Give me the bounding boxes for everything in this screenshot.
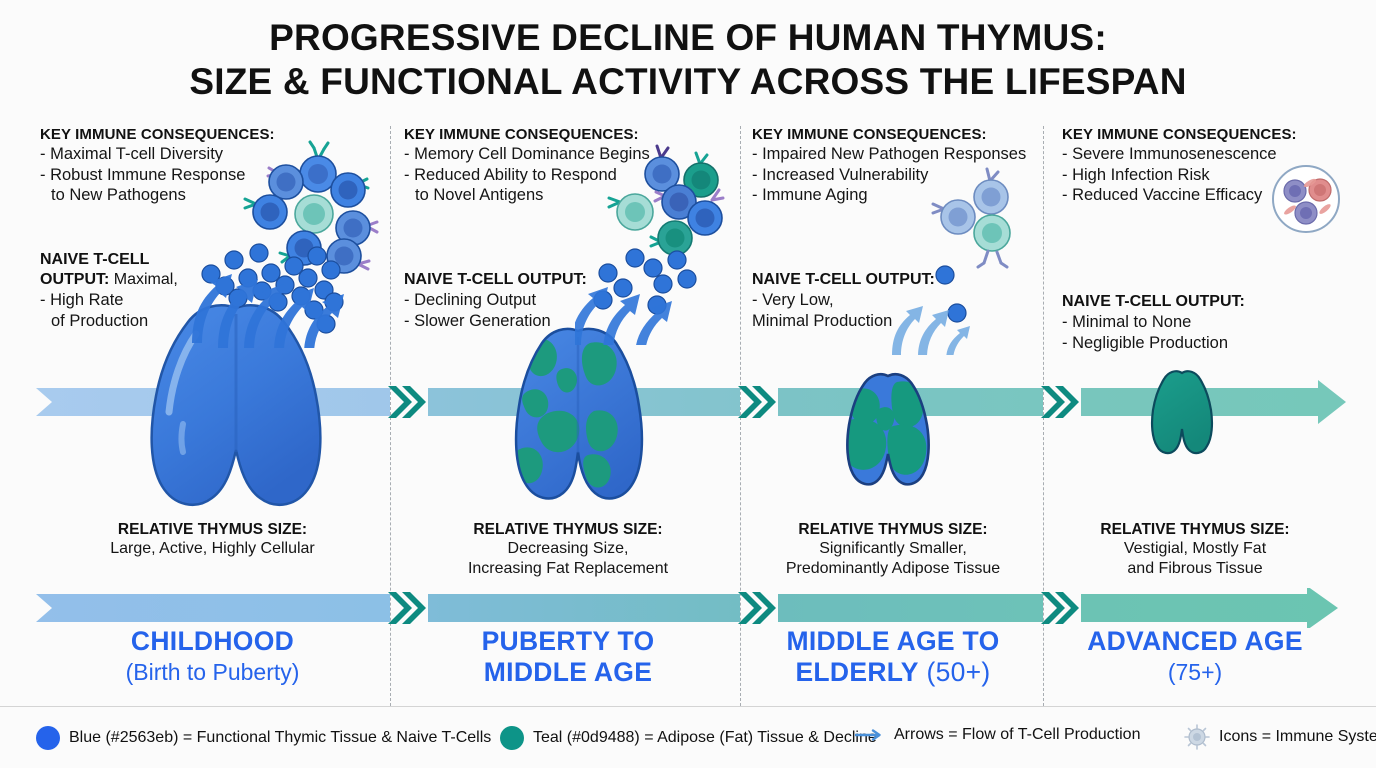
stage-label-line2-bold: ELDERLY <box>795 657 918 687</box>
stage-label-childhood[interactable]: CHILDHOOD (Birth to Puberty) <box>40 626 385 687</box>
legend-label: Arrows = Flow of T-Cell Production <box>894 726 1140 744</box>
stage-label-title: ADVANCED AGE <box>1050 626 1340 657</box>
naive-output-item: - Slower Generation <box>404 311 587 332</box>
size-heading: RELATIVE THYMUS SIZE: <box>400 520 736 539</box>
consequence-item: - Maximal T-cell Diversity <box>40 144 275 165</box>
consequences-list: - Maximal T-cell Diversity - Robust Immu… <box>40 144 275 206</box>
thymus-organ-advanced-age <box>1147 369 1217 457</box>
consequences-list: - Impaired New Pathogen Responses - Incr… <box>752 144 1026 206</box>
naive-output-heading: NAIVE T-CELL <box>40 250 178 270</box>
consequence-item: - Impaired New Pathogen Responses <box>752 144 1026 165</box>
naive-output-list: - Declining Output - Slower Generation <box>404 290 587 331</box>
consequences-list: - Severe Immunosenescence - High Infecti… <box>1062 144 1297 206</box>
naive-output-heading: NAIVE T-CELL OUTPUT: <box>1062 292 1245 312</box>
infographic-canvas: PROGRESSIVE DECLINE OF HUMAN THYMUS: SIZ… <box>0 0 1376 768</box>
consequence-item: - Severe Immunosenescence <box>1062 144 1297 165</box>
size-line: Decreasing Size, <box>400 539 736 559</box>
legend-item-arrows: Arrows = Flow of T-Cell Production <box>855 726 1140 744</box>
stage-label-title-line2: MIDDLE AGE <box>400 657 736 688</box>
column-childhood: KEY IMMUNE CONSEQUENCES: - Maximal T-cel… <box>40 126 275 206</box>
naive-output-list: - Minimal to None - Negligible Productio… <box>1062 312 1245 353</box>
naive-output-item: Minimal Production <box>752 311 935 332</box>
naive-output-heading-l2: OUTPUT: Maximal, <box>40 270 178 290</box>
size-line: Predominantly Adipose Tissue <box>748 559 1038 579</box>
page-title: PROGRESSIVE DECLINE OF HUMAN THYMUS: SIZ… <box>0 16 1376 104</box>
consequence-item: to New Pathogens <box>40 185 275 206</box>
naive-output-item: of Production <box>40 311 178 332</box>
consequence-item: to Novel Antigens <box>404 185 650 206</box>
consequence-item: - High Infection Risk <box>1062 165 1297 186</box>
size-heading: RELATIVE THYMUS SIZE: <box>748 520 1038 539</box>
column-puberty: KEY IMMUNE CONSEQUENCES: - Memory Cell D… <box>404 126 650 206</box>
naive-tcell-dots <box>594 249 696 314</box>
legend-label: Icons = Immune System State <box>1219 728 1376 746</box>
stage-label-title-line1: MIDDLE AGE TO <box>748 626 1038 657</box>
teal-circle-swatch <box>500 726 524 750</box>
consequence-item: - Reduced Vaccine Efficacy <box>1062 185 1297 206</box>
legend: Blue (#2563eb) = Functional Thymic Tissu… <box>0 706 1376 768</box>
stage-label-sub: (75+) <box>1050 657 1340 687</box>
stage-label-title-line1: PUBERTY TO <box>400 626 736 657</box>
stage-label-advanced-age[interactable]: ADVANCED AGE (75+) <box>1050 626 1340 687</box>
naive-output-block: NAIVE T-CELL OUTPUT: - Declining Output … <box>404 270 587 331</box>
size-heading: RELATIVE THYMUS SIZE: <box>1050 520 1340 539</box>
legend-item-icons: Icons = Immune System State <box>1184 724 1376 750</box>
naive-output-heading-l2-bold: OUTPUT: <box>40 271 109 288</box>
naive-output-heading: NAIVE T-CELL OUTPUT: <box>404 270 587 290</box>
size-line: Large, Active, Highly Cellular <box>40 539 385 559</box>
naive-output-list: - High Rate of Production <box>40 290 178 331</box>
naive-output-heading-l2-reg: Maximal, <box>109 271 177 288</box>
consequence-item: - Memory Cell Dominance Begins <box>404 144 650 165</box>
stage-label-title-line2: ELDERLY (50+) <box>748 657 1038 688</box>
consequence-item: - Robust Immune Response <box>40 165 275 186</box>
stage-label-line2-reg: (50+) <box>919 657 991 687</box>
size-line: Significantly Smaller, <box>748 539 1038 559</box>
size-caption-advanced-age: RELATIVE THYMUS SIZE: Vestigial, Mostly … <box>1050 520 1340 578</box>
arrow-right-icon <box>855 728 885 742</box>
legend-label: Teal (#0d9488) = Adipose (Fat) Tissue & … <box>533 729 877 747</box>
stage-label-title: CHILDHOOD <box>40 626 385 657</box>
page-title-line-2: SIZE & FUNCTIONAL ACTIVITY ACROSS THE LI… <box>0 60 1376 104</box>
thymus-organ-middle-age <box>841 372 935 490</box>
legend-item-blue: Blue (#2563eb) = Functional Thymic Tissu… <box>36 726 491 750</box>
stage-label-sub: (Birth to Puberty) <box>40 657 385 687</box>
naive-output-list: - Very Low, Minimal Production <box>752 290 935 331</box>
consequences-heading: KEY IMMUNE CONSEQUENCES: <box>404 126 650 143</box>
size-line: Increasing Fat Replacement <box>400 559 736 579</box>
size-caption-middle-age: RELATIVE THYMUS SIZE: Significantly Smal… <box>748 520 1038 578</box>
consequence-item: - Reduced Ability to Respond <box>404 165 650 186</box>
size-heading: RELATIVE THYMUS SIZE: <box>40 520 385 539</box>
size-caption-childhood: RELATIVE THYMUS SIZE: Large, Active, Hig… <box>40 520 385 559</box>
page-title-line-1: PROGRESSIVE DECLINE OF HUMAN THYMUS: <box>0 16 1376 60</box>
naive-output-heading-l1: NAIVE T-CELL <box>40 251 149 268</box>
consequences-heading: KEY IMMUNE CONSEQUENCES: <box>752 126 1026 143</box>
stage-label-middle-age[interactable]: MIDDLE AGE TO ELDERLY (50+) <box>748 626 1038 688</box>
size-line: and Fibrous Tissue <box>1050 559 1340 579</box>
column-advanced-age: KEY IMMUNE CONSEQUENCES: - Severe Immuno… <box>1062 126 1297 206</box>
consequences-heading: KEY IMMUNE CONSEQUENCES: <box>40 126 275 143</box>
legend-label: Blue (#2563eb) = Functional Thymic Tissu… <box>69 729 491 747</box>
size-line: Vestigial, Mostly Fat <box>1050 539 1340 559</box>
naive-output-item: - Negligible Production <box>1062 333 1245 354</box>
naive-output-block: NAIVE T-CELL OUTPUT: Maximal, - High Rat… <box>40 250 178 331</box>
naive-output-block: NAIVE T-CELL OUTPUT: - Minimal to None -… <box>1062 292 1245 353</box>
naive-output-item: - High Rate <box>40 290 178 311</box>
naive-output-item: - Very Low, <box>752 290 935 311</box>
naive-output-heading: NAIVE T-CELL OUTPUT: <box>752 270 935 290</box>
size-caption-puberty: RELATIVE THYMUS SIZE: Decreasing Size, I… <box>400 520 736 578</box>
legend-row: Blue (#2563eb) = Functional Thymic Tissu… <box>0 707 1376 769</box>
naive-output-item: - Declining Output <box>404 290 587 311</box>
virus-cell-icon <box>1184 724 1210 750</box>
legend-item-teal: Teal (#0d9488) = Adipose (Fat) Tissue & … <box>500 726 877 750</box>
stage-label-puberty[interactable]: PUBERTY TO MIDDLE AGE <box>400 626 736 688</box>
timeline-band-bottom <box>0 588 1376 628</box>
naive-output-block: NAIVE T-CELL OUTPUT: - Very Low, Minimal… <box>752 270 935 331</box>
naive-output-item: - Minimal to None <box>1062 312 1245 333</box>
column-middle-age: KEY IMMUNE CONSEQUENCES: - Impaired New … <box>752 126 1026 206</box>
thymus-organ-puberty <box>506 325 650 509</box>
consequences-list: - Memory Cell Dominance Begins - Reduced… <box>404 144 650 206</box>
consequence-item: - Immune Aging <box>752 185 1026 206</box>
consequences-heading: KEY IMMUNE CONSEQUENCES: <box>1062 126 1297 143</box>
blue-circle-swatch <box>36 726 60 750</box>
consequence-item: - Increased Vulnerability <box>752 165 1026 186</box>
